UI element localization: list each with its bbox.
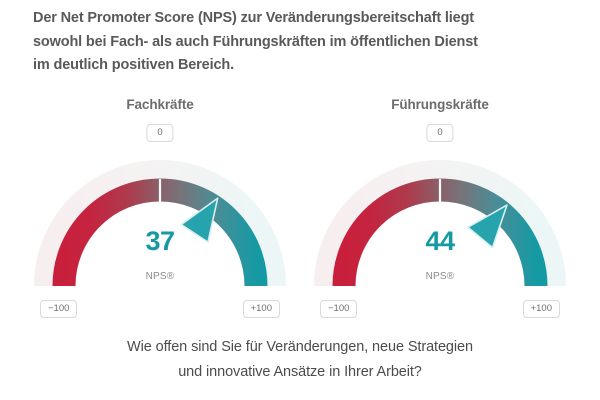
gauge-title: Führungskräfte (324, 96, 556, 114)
gauge-tick-max: +100 (523, 300, 560, 318)
gauge-tick-max: +100 (243, 300, 280, 318)
question-caption: Wie offen sind Sie für Veränderungen, ne… (0, 335, 600, 385)
gauge-tick-zero: 0 (426, 124, 453, 142)
gauge-arc-chart (324, 126, 556, 326)
gauge-tick-zero: 0 (146, 124, 173, 142)
headline-line-2: sowohl bei Fach- als auch Führungskräfte… (33, 31, 573, 55)
gauge-tick-min: −100 (40, 300, 77, 318)
headline: Der Net Promoter Score (NPS) zur Verände… (33, 7, 573, 78)
question-line-2: und innovative Ansätze in Ihrer Arbeit? (0, 360, 600, 385)
gauge-title: Fachkräfte (44, 96, 276, 114)
gauge-fuehrungskraefte: Führungskräfte (324, 96, 556, 321)
question-line-1: Wie offen sind Sie für Veränderungen, ne… (0, 335, 600, 360)
headline-line-1: Der Net Promoter Score (NPS) zur Verände… (33, 7, 573, 31)
gauge-body: 0 −100 +100 44 NPS® (324, 126, 556, 326)
gauge-group: Fachkräfte (0, 96, 600, 321)
headline-line-3: im deutlich positiven Bereich. (33, 54, 573, 78)
gauge-body: 0 −100 +100 37 NPS® (44, 126, 276, 326)
gauge-arc-chart (44, 126, 276, 326)
gauge-fachkraefte: Fachkräfte (44, 96, 276, 321)
gauge-tick-min: −100 (320, 300, 357, 318)
